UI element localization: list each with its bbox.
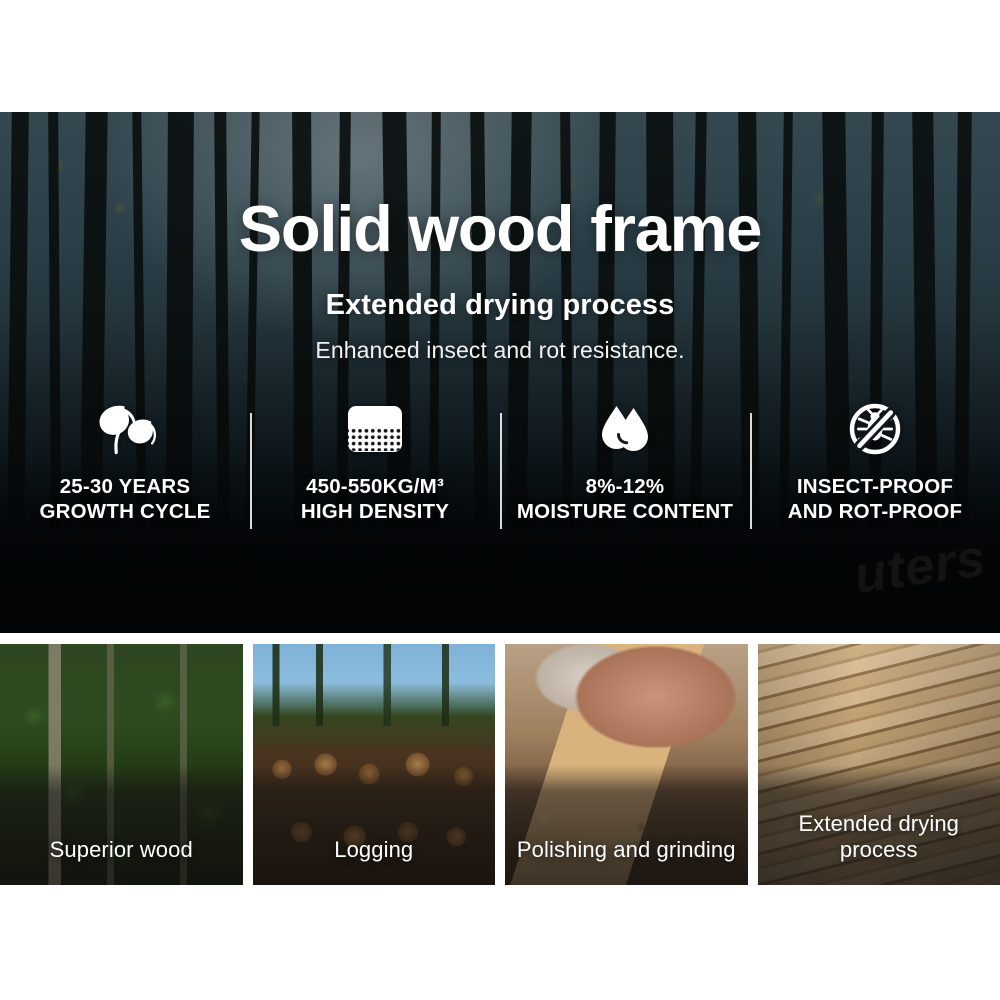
- feature-insect-rot-proof-text: INSECT-PROOF AND ROT-PROOF: [788, 474, 963, 524]
- feature-list: 25-30 YEARS GROWTH CYCLE: [0, 398, 1000, 528]
- feature-high-density: 450-550KG/M³ HIGH DENSITY: [250, 398, 500, 524]
- feature-growth-cycle-line2: GROWTH CYCLE: [40, 499, 211, 524]
- feature-moisture-content-line1: 8%-12%: [586, 475, 665, 498]
- product-feature-banner: uters Solid wood frame Extended drying p…: [0, 0, 1000, 1000]
- feature-moisture-content-line2: MOISTURE CONTENT: [517, 499, 733, 524]
- feature-moisture-content: 8%-12% MOISTURE CONTENT: [500, 398, 750, 524]
- hero-tagline: Enhanced insect and rot resistance.: [0, 337, 1000, 364]
- caption-overlay: [0, 765, 243, 886]
- hero-subtitle: Extended drying process: [0, 289, 1000, 322]
- process-card-superior-wood: Superior wood: [0, 644, 243, 885]
- caption-overlay: [253, 765, 496, 886]
- feature-moisture-content-text: 8%-12% MOISTURE CONTENT: [517, 474, 733, 524]
- density-block-icon: [344, 398, 406, 462]
- feature-high-density-line1: 450-550KG/M³: [306, 475, 444, 498]
- feature-growth-cycle-text: 25-30 YEARS GROWTH CYCLE: [40, 474, 211, 524]
- process-card-polishing-caption: Polishing and grinding: [505, 837, 748, 863]
- no-insect-icon: [844, 398, 906, 462]
- feature-growth-cycle: 25-30 YEARS GROWTH CYCLE: [0, 398, 250, 524]
- feature-insect-rot-proof: INSECT-PROOF AND ROT-PROOF: [750, 398, 1000, 524]
- feature-high-density-line2: HIGH DENSITY: [301, 499, 449, 524]
- feature-growth-cycle-line1: 25-30 YEARS: [60, 475, 191, 498]
- process-card-logging-caption: Logging: [253, 837, 496, 863]
- process-card-polishing: Polishing and grinding: [505, 644, 748, 885]
- caption-overlay: [505, 765, 748, 886]
- feature-insect-rot-proof-line2: AND ROT-PROOF: [788, 499, 963, 524]
- leaf-icon: [94, 398, 156, 462]
- page-title: Solid wood frame: [0, 196, 1000, 261]
- feature-high-density-text: 450-550KG/M³ HIGH DENSITY: [301, 474, 449, 524]
- process-card-drying-caption: Extended drying process: [758, 811, 1000, 863]
- hero-section: uters Solid wood frame Extended drying p…: [0, 112, 1000, 633]
- water-droplets-icon: [594, 398, 656, 462]
- feature-insect-rot-proof-line1: INSECT-PROOF: [797, 475, 953, 498]
- hero-content: Solid wood frame Extended drying process…: [0, 112, 1000, 633]
- process-card-logging: Logging: [253, 644, 496, 885]
- process-photo-strip: Superior wood Logging Polishing and grin…: [0, 644, 1000, 885]
- process-card-superior-wood-caption: Superior wood: [0, 837, 243, 863]
- process-card-drying: Extended drying process: [758, 644, 1000, 885]
